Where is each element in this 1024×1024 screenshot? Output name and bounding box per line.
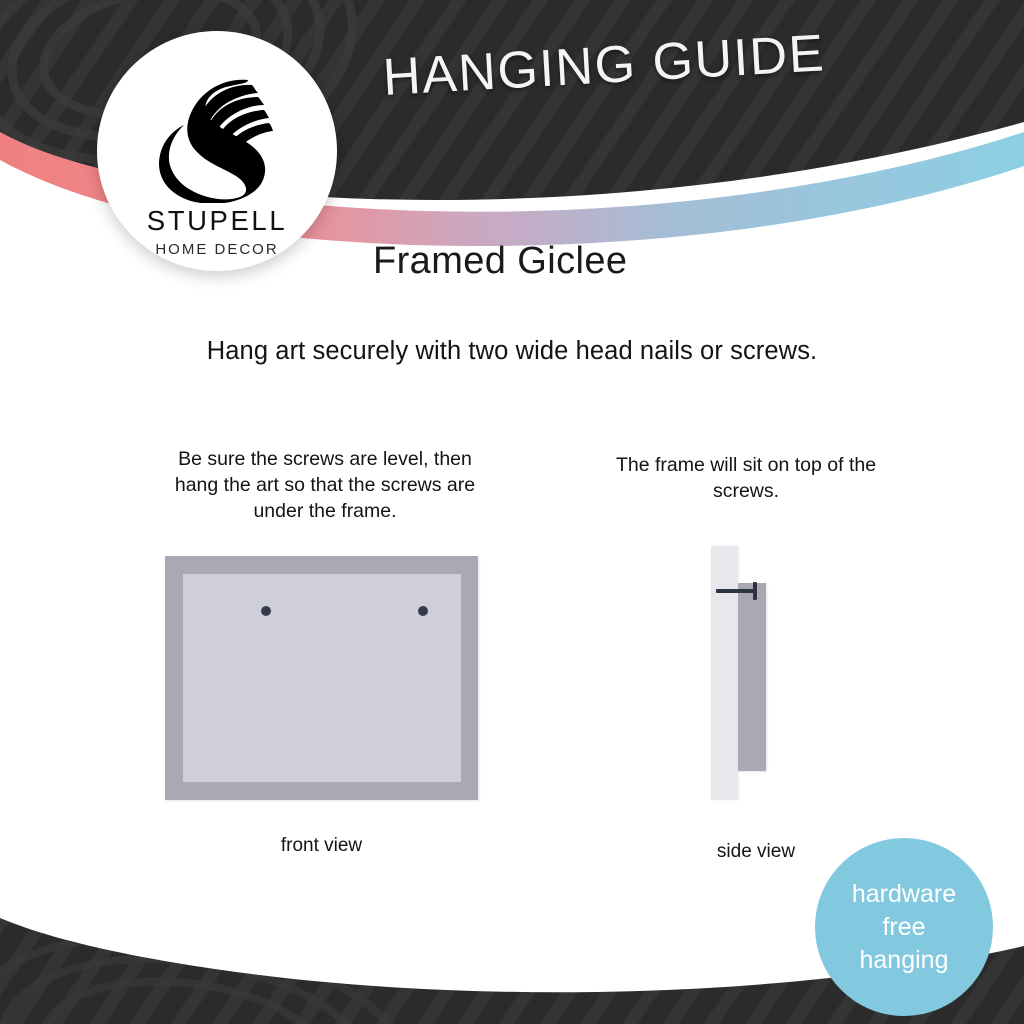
brand-subwordmark: HOME DECOR xyxy=(155,242,278,257)
front-view-frame-diagram xyxy=(165,556,478,800)
side-view-wall xyxy=(711,546,738,800)
badge-line-3: hanging xyxy=(860,944,949,977)
badge-line-1: hardware xyxy=(852,878,956,911)
hanging-guide-infographic: STUPELL HOME DECOR HANGING GUIDE Framed … xyxy=(0,0,1024,1024)
badge-line-2: free xyxy=(882,911,925,944)
side-view-frame-diagram xyxy=(711,546,801,800)
side-view-label: side view xyxy=(660,841,852,863)
hardware-free-hanging-badge: hardware free hanging xyxy=(815,838,993,1016)
stupell-swoosh-logo-icon xyxy=(151,63,283,203)
screw-dot-right-icon xyxy=(418,606,428,616)
nail-head-icon xyxy=(753,582,757,600)
page-title: HANGING GUIDE xyxy=(381,23,826,108)
side-view-frame-bar xyxy=(738,583,766,771)
front-view-mat-area xyxy=(183,574,461,782)
front-view-label: front view xyxy=(165,835,478,857)
side-view-caption: The frame will sit on top of the screws. xyxy=(596,452,896,504)
screw-dot-left-icon xyxy=(261,606,271,616)
brand-wordmark: STUPELL xyxy=(147,207,287,235)
brand-logo-badge: STUPELL HOME DECOR xyxy=(97,31,337,271)
nail-shaft-icon xyxy=(716,589,756,593)
front-view-caption: Be sure the screws are level, then hang … xyxy=(160,446,490,524)
product-name: Framed Giclee xyxy=(373,240,627,283)
main-instruction-text: Hang art securely with two wide head nai… xyxy=(0,337,1024,366)
